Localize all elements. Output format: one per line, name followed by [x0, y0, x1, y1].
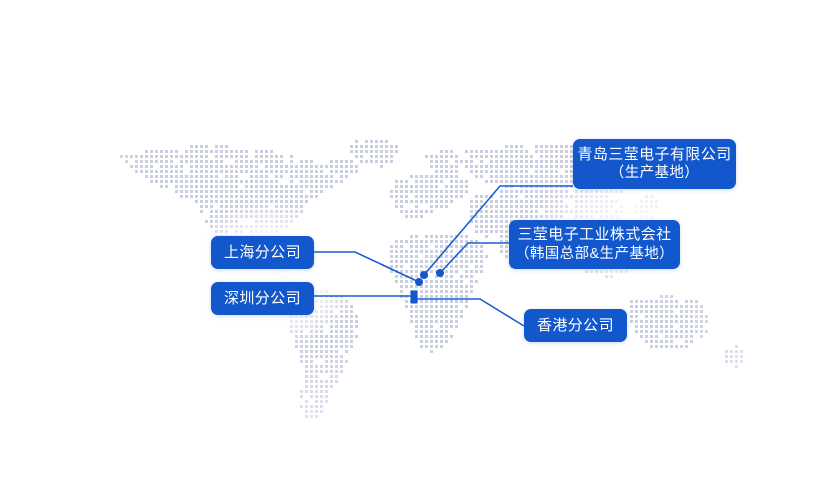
- map-layer: [0, 0, 824, 480]
- callout-hongkong[interactable]: 香港分公司: [524, 309, 627, 342]
- world-map-dotted: [0, 0, 824, 480]
- callout-korea[interactable]: 三莹电子工业株式会社 （韩国总部&生产基地）: [509, 220, 680, 269]
- callout-shenzhen-line1: 深圳分公司: [224, 289, 301, 309]
- callout-hongkong-line1: 香港分公司: [537, 316, 614, 336]
- marker-hongkong[interactable]: [411, 295, 418, 304]
- callout-shanghai-line1: 上海分公司: [224, 243, 301, 263]
- callout-qingdao-line2: （生产基地）: [610, 164, 699, 183]
- marker-shanghai[interactable]: [415, 278, 423, 286]
- callout-qingdao[interactable]: 青岛三莹电子有限公司 （生产基地）: [573, 139, 736, 189]
- callout-qingdao-line1: 青岛三莹电子有限公司: [578, 145, 732, 165]
- callout-shanghai[interactable]: 上海分公司: [211, 236, 314, 269]
- callout-korea-line2: （韩国总部&生产基地）: [515, 245, 674, 264]
- callout-korea-line1: 三莹电子工业株式会社: [518, 225, 672, 245]
- marker-korea[interactable]: [436, 269, 444, 277]
- world-map-infographic: 青岛三莹电子有限公司 （生产基地） 三莹电子工业株式会社 （韩国总部&生产基地）…: [0, 0, 824, 480]
- callout-shenzhen[interactable]: 深圳分公司: [211, 282, 314, 315]
